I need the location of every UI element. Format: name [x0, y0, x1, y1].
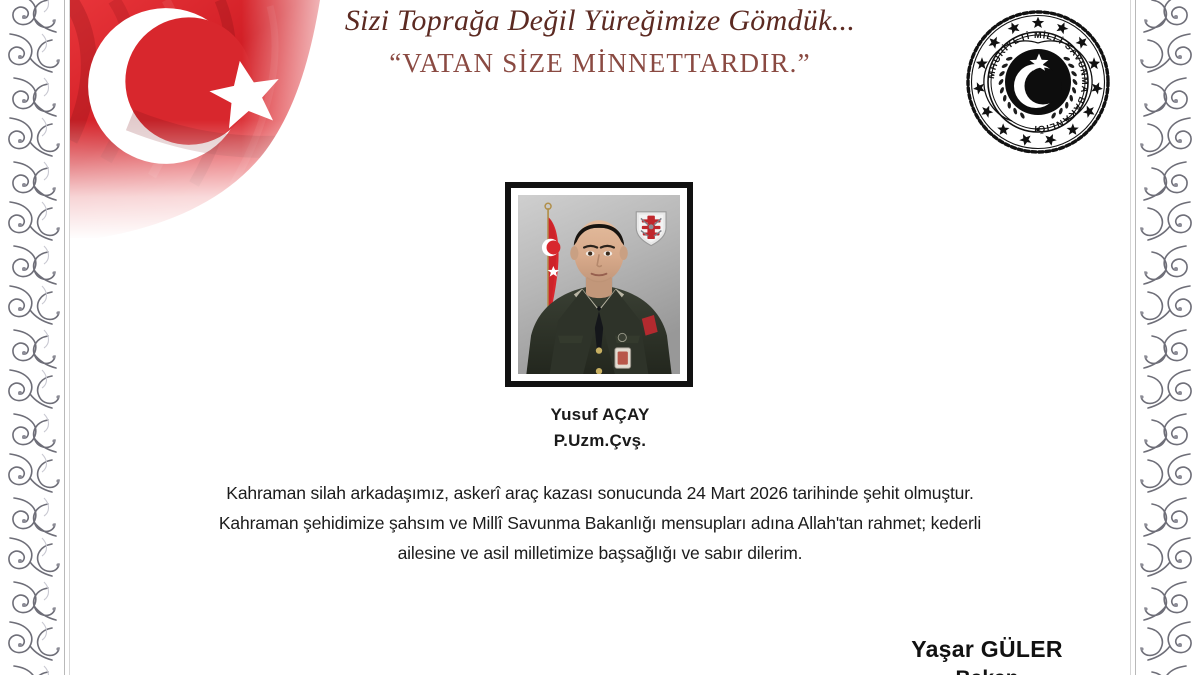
inner-rule-right-1 [1135, 0, 1136, 675]
scrollwork-unit [1138, 326, 1200, 410]
signature-block: Yaşar GÜLER Bakan [872, 636, 1102, 675]
scrollwork-unit [1138, 158, 1200, 242]
martyr-rank: P.Uzm.Çvş. [0, 428, 1200, 454]
signature-name: Yaşar GÜLER [872, 636, 1102, 664]
scrollwork-unit [0, 494, 62, 578]
scrollwork-unit [1138, 242, 1200, 326]
scrollwork-unit [0, 74, 62, 158]
scrollwork-unit [0, 242, 62, 326]
condolence-message: Kahraman silah arkadaşımız, askerî araç … [110, 478, 1090, 568]
ornament-border-left [0, 0, 62, 675]
martyr-name: Yusuf AÇAY [0, 402, 1200, 428]
scrollwork-column-right [1138, 0, 1200, 675]
scrollwork-unit [1138, 662, 1200, 675]
scrollwork-unit [0, 662, 62, 675]
scrollwork-unit [1138, 494, 1200, 578]
ministry-of-national-defence-seal: TÜRKİYE CUMHURİYETİ MİLLİ SAVUNMA BAKANL… [964, 8, 1112, 156]
message-line-2: Kahraman şehidimize şahsım ve Millî Savu… [110, 508, 1090, 538]
message-line-1: Kahraman silah arkadaşımız, askerî araç … [110, 478, 1090, 508]
scrollwork-unit [0, 578, 62, 662]
portrait-photo [518, 195, 680, 374]
memorial-poster: Sizi Toprağa Değil Yüreğimize Gömdük... … [0, 0, 1200, 675]
inner-rule-left-2 [69, 0, 70, 675]
martyr-identity: Yusuf AÇAY P.Uzm.Çvş. [0, 402, 1200, 455]
scrollwork-unit [0, 158, 62, 242]
inner-rule-right-2 [1130, 0, 1131, 675]
ornament-border-right [1138, 0, 1200, 675]
message-line-3: ailesine ve asil milletimize başsağlığı … [110, 538, 1090, 568]
scrollwork-column-left [0, 0, 62, 675]
inner-rule-left-1 [64, 0, 65, 675]
scrollwork-unit [1138, 74, 1200, 158]
portrait-frame [505, 182, 693, 387]
scrollwork-unit [0, 326, 62, 410]
signature-title: Bakan [872, 666, 1102, 675]
scrollwork-unit [1138, 578, 1200, 662]
